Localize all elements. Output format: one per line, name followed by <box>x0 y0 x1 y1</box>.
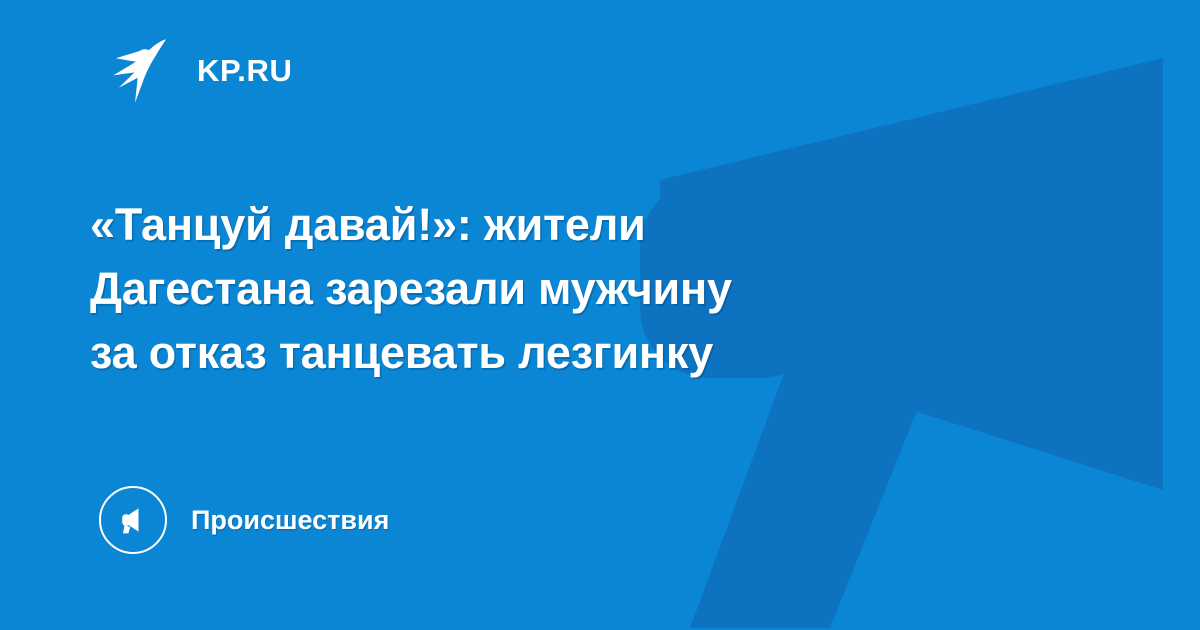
category-badge[interactable]: Происшествия <box>99 485 389 555</box>
headline-line-2: Дагестана зарезали мужчину <box>90 257 990 321</box>
brand-logo[interactable]: KP.RU <box>103 34 292 106</box>
category-label: Происшествия <box>191 507 389 534</box>
share-card: KP.RU «Танцуй давай!»: жители Дагестана … <box>0 0 1200 630</box>
swallow-bird-icon <box>103 34 175 106</box>
megaphone-icon <box>99 486 167 554</box>
headline-line-1: «Танцуй давай!»: жители <box>90 193 990 257</box>
headline-line-3: за отказ танцевать лезгинку <box>90 321 990 385</box>
brand-name: KP.RU <box>197 55 292 86</box>
headline: «Танцуй давай!»: жители Дагестана зареза… <box>90 193 990 385</box>
